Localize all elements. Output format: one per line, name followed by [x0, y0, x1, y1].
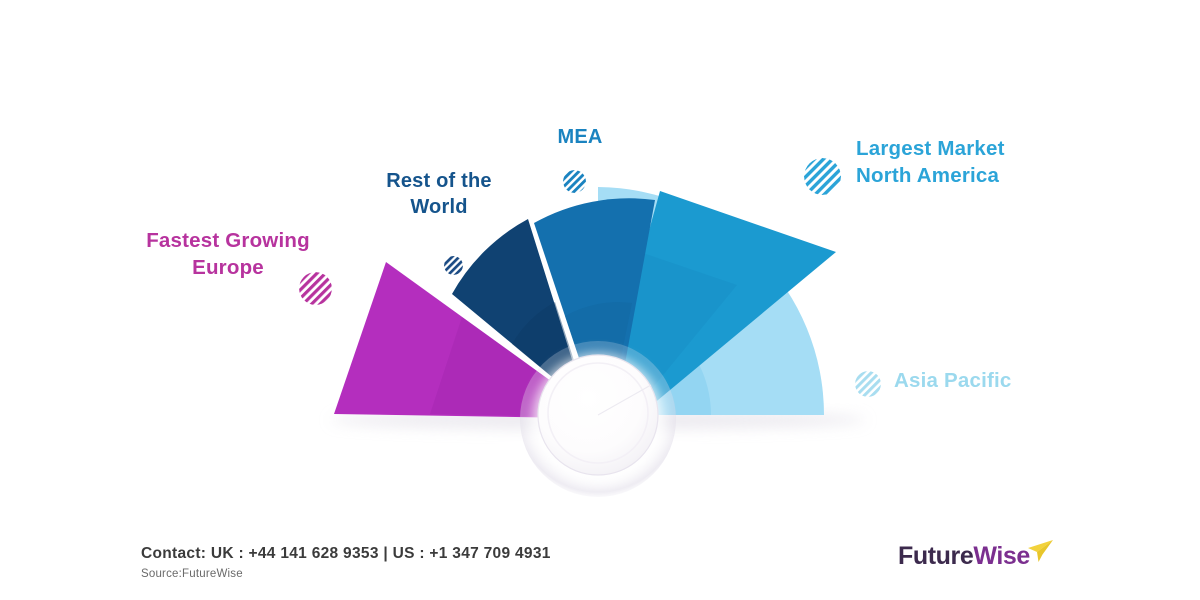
regional-market-share-chart: [0, 0, 1200, 600]
striped-circle-marker-rest-of-world: [444, 256, 463, 275]
striped-circle-marker-asia-pacific: [855, 371, 881, 397]
paper-plane-icon: [1024, 539, 1054, 565]
label-europe: Fastest Growing Europe: [108, 228, 348, 281]
source-line: Source:FutureWise: [141, 568, 243, 580]
label-north-america: Largest Market North America: [856, 136, 1066, 189]
logo-word-wise: Wise: [973, 542, 1030, 570]
label-mea: MEA: [520, 124, 640, 150]
label-asia-pacific: Asia Pacific: [894, 368, 1104, 395]
striped-circle-marker-mea: [563, 170, 586, 193]
futurewise-logo[interactable]: FutureWise: [898, 542, 1058, 586]
logo-wordmark: FutureWise: [898, 542, 1030, 571]
label-rest-of-world: Rest of the World: [352, 168, 526, 220]
chart-center-hub: [520, 341, 676, 497]
infographic-canvas: Fastest Growing Europe Rest of the World…: [0, 0, 1200, 600]
footer: Contact: UK : +44 141 628 9353 | US : +1…: [0, 524, 1200, 600]
contact-line: Contact: UK : +44 141 628 9353 | US : +1…: [141, 545, 551, 563]
logo-word-future: Future: [898, 542, 973, 570]
striped-circle-marker-north-america: [804, 158, 841, 195]
